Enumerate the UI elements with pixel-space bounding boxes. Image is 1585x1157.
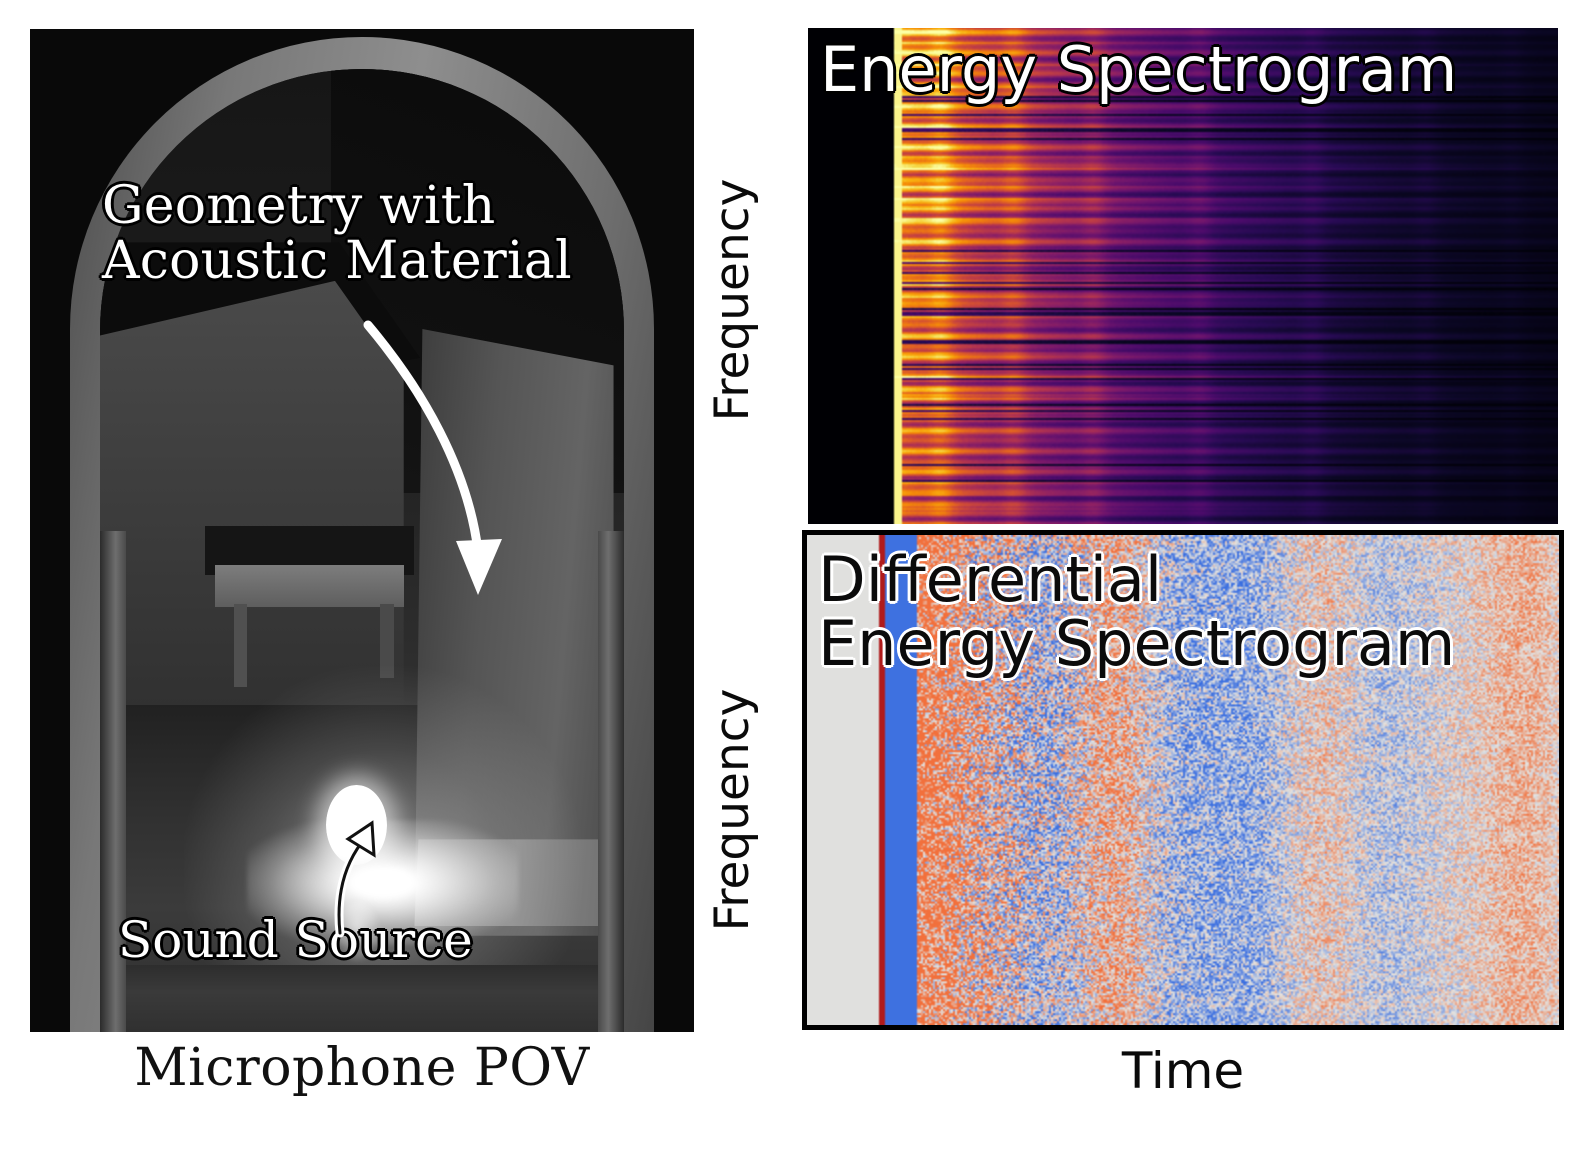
time-axis-label: Time <box>802 1042 1564 1100</box>
microphone-pov-render: Geometry with Acoustic Material Sound So… <box>30 29 694 1032</box>
microphone-pov-caption: Microphone POV <box>30 1038 694 1098</box>
floor-baseboard <box>100 965 624 1032</box>
sound-source-sphere <box>326 785 387 866</box>
table-top <box>215 565 404 607</box>
frequency-axis-label-differential: Frequency <box>705 600 765 1020</box>
arch-jamb-right <box>598 531 624 1032</box>
energy-spectrogram-plot <box>808 28 1558 524</box>
archway-opening <box>100 69 624 1032</box>
arch-jamb-left <box>100 531 126 1032</box>
differential-spectrogram-plot <box>802 530 1564 1030</box>
rendered-room-scene <box>30 29 694 1032</box>
differential-spectrogram-canvas <box>807 535 1559 1025</box>
frequency-axis-label-energy: Frequency <box>705 100 765 500</box>
energy-spectrogram-canvas <box>808 28 1558 524</box>
sound-source-reflection <box>336 902 378 960</box>
